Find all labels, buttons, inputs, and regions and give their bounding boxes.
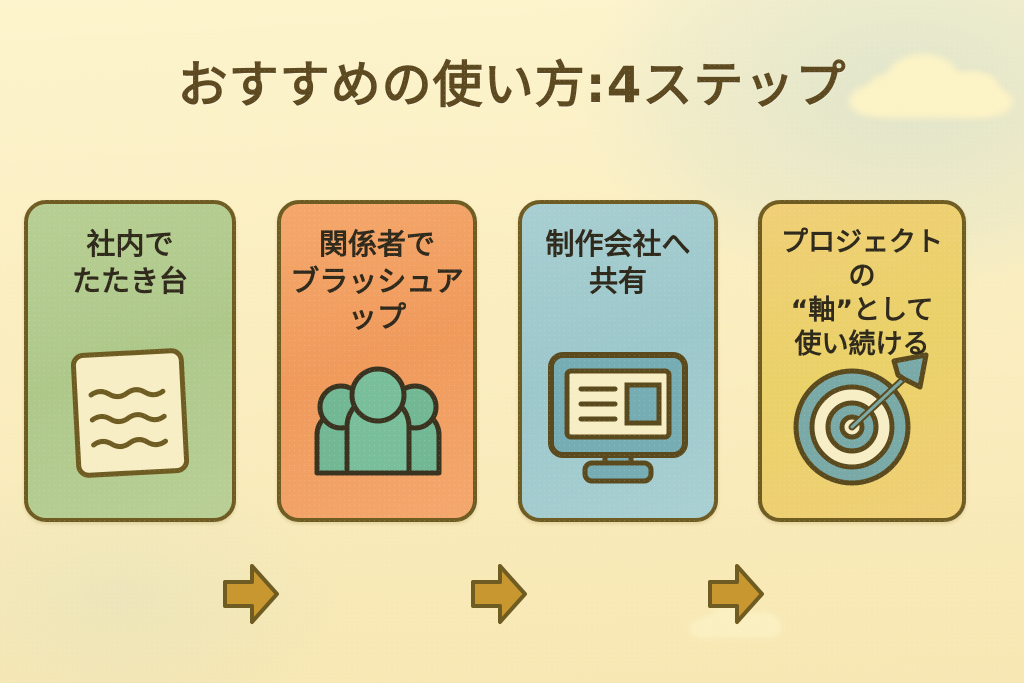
step-label: プロジェクトの “軸”として 使い続ける: [762, 226, 962, 362]
infographic-poster: おすすめの使い方:4ステップ 社内で たたき台: [0, 0, 1024, 683]
arrow-right-icon: [707, 560, 765, 628]
step-label: 社内で たたき台: [28, 226, 232, 299]
people-group-icon: [281, 344, 473, 494]
step-card-1: 社内で たたき台: [24, 200, 236, 522]
page-title: おすすめの使い方:4ステップ: [0, 58, 1024, 113]
document-icon: [28, 338, 232, 488]
steps-row: 社内で たたき台 関係者で ブラッシュアップ: [0, 200, 1024, 525]
arrow-right-icon: [222, 560, 280, 628]
step-card-2: 関係者で ブラッシュアップ: [277, 200, 477, 522]
monitor-icon: [522, 344, 714, 494]
step-label: 関係者で ブラッシュアップ: [281, 226, 473, 336]
arrow-right-icon: [470, 560, 528, 628]
step-card-4: プロジェクトの “軸”として 使い続ける: [758, 200, 966, 522]
step-label: 制作会社へ 共有: [522, 226, 714, 299]
step-card-3: 制作会社へ 共有: [518, 200, 718, 522]
target-arrow-icon: [762, 344, 962, 494]
